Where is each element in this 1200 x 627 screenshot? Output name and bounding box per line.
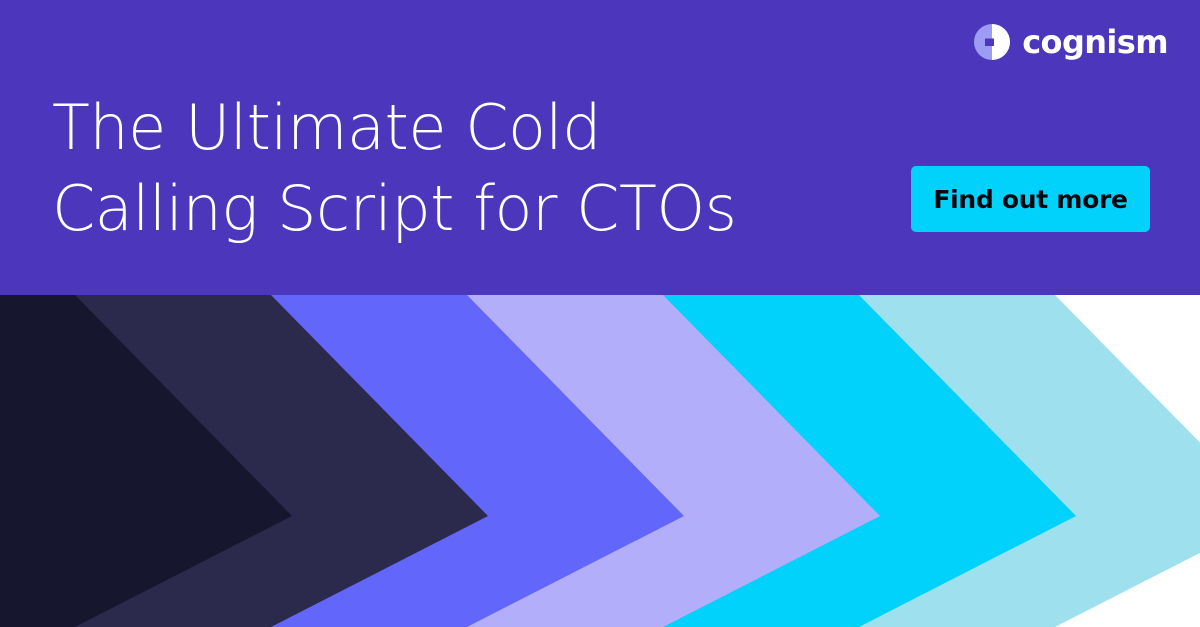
page-title: The Ultimate Cold Calling Script for CTO… xyxy=(52,88,736,249)
find-out-more-button[interactable]: Find out more xyxy=(911,166,1150,232)
chevron-decoration xyxy=(0,295,1200,627)
cognism-wordmark: cognism xyxy=(1022,26,1168,58)
cognism-circle-mark-icon xyxy=(974,24,1010,60)
headline-line-1: The Ultimate Cold xyxy=(52,88,736,169)
cognism-promo-banner: cognism The Ultimate Cold Calling Script… xyxy=(0,0,1200,627)
headline-line-2: Calling Script for CTOs xyxy=(52,169,736,250)
chevron-svg xyxy=(0,295,1200,627)
banner-header: cognism The Ultimate Cold Calling Script… xyxy=(0,0,1200,295)
cognism-logo[interactable]: cognism xyxy=(974,24,1168,60)
chevron-bands xyxy=(0,295,1200,627)
